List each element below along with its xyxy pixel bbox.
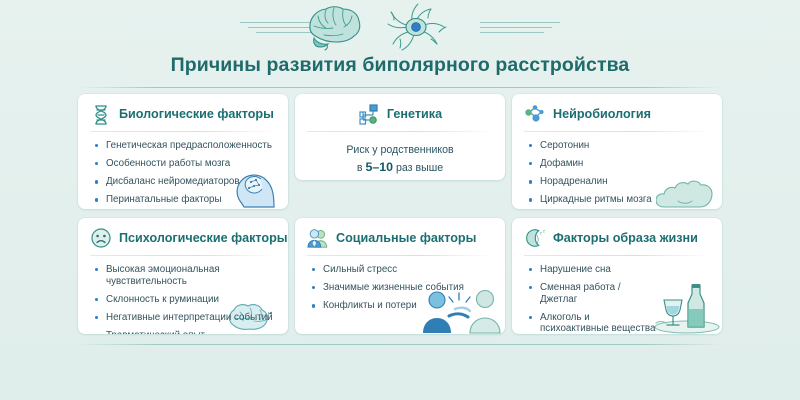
card-item-list: Сильный стресс Значимые жизненные событи… xyxy=(295,264,505,312)
card-neurobiology[interactable]: Нейробиология Серотонин Дофамин Норадрен… xyxy=(512,94,722,209)
card-psychological[interactable]: Психологические факторы Высокая эмоциона… xyxy=(78,218,288,334)
genetics-highlight: 5–10 xyxy=(365,160,393,174)
card-title: Психологические факторы xyxy=(119,231,288,245)
card-title: Генетика xyxy=(387,107,442,121)
card-title: Факторы образа жизни xyxy=(553,231,698,245)
card-header: Социальные факторы xyxy=(295,218,505,249)
card-biological[interactable]: Биологические факторы Генетическая предр… xyxy=(78,94,288,209)
card-title: Нейробиология xyxy=(553,107,651,121)
card-social[interactable]: Социальные факторы Сильный стресс Значим… xyxy=(295,218,505,334)
list-item: Дофамин xyxy=(528,158,712,170)
card-item-list: Высокая эмоциональная чувствительность С… xyxy=(78,264,288,334)
dna-helix-icon xyxy=(90,103,112,125)
header-divider xyxy=(524,255,710,256)
list-item: Травматический опыт xyxy=(94,330,278,334)
genetics-statistic: Риск у родственников в 5–10 раз выше xyxy=(295,143,505,176)
genetics-line-1: Риск у родственников xyxy=(295,143,505,158)
brain-icon xyxy=(310,7,360,50)
network-nodes-icon xyxy=(358,103,380,125)
sad-face-icon xyxy=(90,227,112,249)
card-title: Биологические факторы xyxy=(119,107,274,121)
card-header: Биологические факторы xyxy=(78,94,288,125)
header-divider xyxy=(524,131,710,132)
card-item-list: Серотонин Дофамин Норадреналин Циркадные… xyxy=(512,140,722,206)
list-item: Сильный стресс xyxy=(311,264,495,276)
genetics-line-2: в 5–10 раз выше xyxy=(295,160,505,176)
list-item: Негативные интерпретации событий xyxy=(94,312,278,324)
list-item: Склонность к руминации xyxy=(94,294,278,306)
list-item: Серотонин xyxy=(528,140,712,152)
hero-illustration xyxy=(0,2,800,54)
divider-bottom xyxy=(78,344,722,345)
molecule-icon xyxy=(524,103,546,125)
page-title: Причины развития биполярного расстройств… xyxy=(0,54,800,77)
card-header: Нейробиология xyxy=(512,94,722,125)
list-item: Конфликты и потери xyxy=(311,300,495,312)
header-divider xyxy=(307,131,493,132)
card-header: zz Факторы образа жизни xyxy=(512,218,722,249)
brain-and-neuron-illustration xyxy=(300,2,500,52)
neuron-icon xyxy=(388,4,446,50)
card-lifestyle[interactable]: zz Факторы образа жизни Нарушение сна См… xyxy=(512,218,722,334)
divider-top xyxy=(78,87,722,88)
card-item-list: Нарушение сна Сменная работа / Джетлаг А… xyxy=(512,264,722,334)
list-item: Дисбаланс нейромедиаторов xyxy=(94,176,278,188)
two-people-icon xyxy=(307,227,329,249)
list-item: Циркадные ритмы мозга xyxy=(528,194,712,206)
list-item: Генетическая предрасположенность xyxy=(94,140,278,152)
list-item: Сменная работа / Джетлаг xyxy=(528,282,660,305)
card-genetics[interactable]: Генетика Риск у родственников в 5–10 раз… xyxy=(295,94,505,180)
genetics-suffix: раз выше xyxy=(393,162,443,174)
list-item: Норадреналин xyxy=(528,176,712,188)
header-divider xyxy=(307,255,493,256)
list-item: Нарушение сна xyxy=(528,264,660,276)
card-header: Генетика xyxy=(295,94,505,125)
infographic-canvas: Причины развития биполярного расстройств… xyxy=(0,0,800,400)
list-item: Высокая эмоциональная чувствительность xyxy=(94,264,278,287)
list-item: Значимые жизненные события xyxy=(311,282,495,294)
crescent-moon-icon: zz xyxy=(524,227,546,249)
list-item: Алкоголь и психоактивные вещества xyxy=(528,312,660,334)
svg-text:z: z xyxy=(543,229,546,234)
header-divider xyxy=(90,255,276,256)
list-item: Перинатальные факторы xyxy=(94,194,278,206)
header-divider xyxy=(90,131,276,132)
card-header: Психологические факторы xyxy=(78,218,288,249)
card-title: Социальные факторы xyxy=(336,231,476,245)
card-item-list: Генетическая предрасположенность Особенн… xyxy=(78,140,288,206)
list-item: Особенности работы мозга xyxy=(94,158,278,170)
cards-grid: Биологические факторы Генетическая предр… xyxy=(78,94,722,334)
